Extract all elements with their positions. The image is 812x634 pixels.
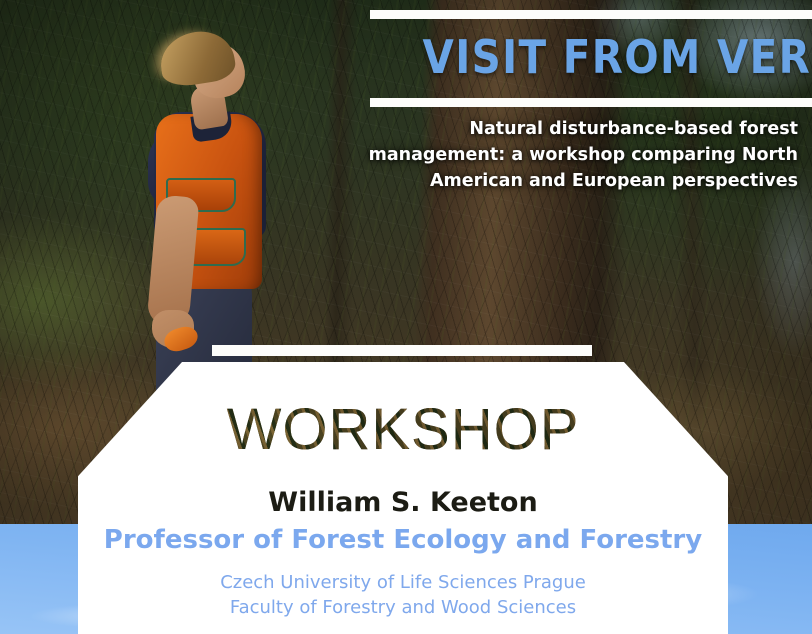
event-type-title: WORKSHOP [78, 398, 728, 462]
forester-figure [118, 28, 308, 388]
poster-headline: VISIT FROM VERMONT [423, 24, 808, 90]
info-card-content: WORKSHOP William S. Keeton Professor of … [78, 362, 728, 634]
speaker-name: William S. Keeton [78, 486, 728, 520]
headline-top-rule [370, 10, 812, 19]
card-top-rule [212, 345, 592, 356]
headline-bottom-rule [370, 98, 812, 107]
affiliation-block: Czech University of Life Sciences Prague… [78, 570, 728, 620]
poster-subtitle: Natural disturbance-based forest managem… [328, 116, 798, 194]
info-card: WORKSHOP William S. Keeton Professor of … [78, 362, 728, 634]
affiliation-line-2: Faculty of Forestry and Wood Sciences [78, 595, 728, 620]
speaker-role: Professor of Forest Ecology and Forestry [78, 522, 728, 558]
affiliation-line-1: Czech University of Life Sciences Prague [78, 570, 728, 595]
poster-canvas: VISIT FROM VERMONT Natural disturbance-b… [0, 0, 812, 634]
